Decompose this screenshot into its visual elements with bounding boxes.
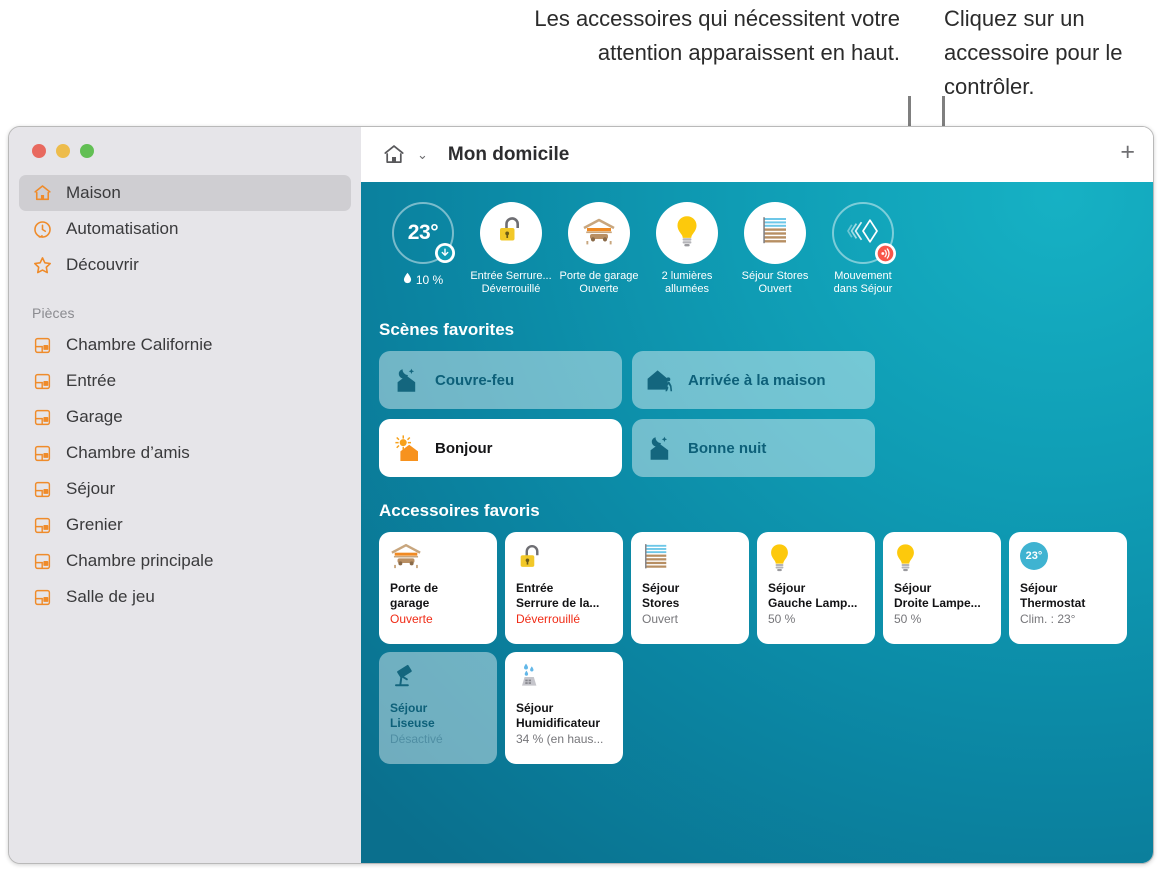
sidebar-item-label: Découvrir	[66, 255, 139, 275]
app-window: Maison Automatisation Découvrir	[8, 126, 1154, 864]
motion-alert-badge-icon	[875, 243, 896, 264]
thermostat-temperature-badge: 23°	[1020, 542, 1048, 570]
scene-label: Arrivée à la maison	[688, 372, 826, 389]
blinds-icon	[642, 542, 739, 580]
accessory-card-sejour-thermostat[interactable]: 23° Séjour Thermostat Clim. : 23°	[1009, 532, 1127, 644]
status-strip: 23° 10 %	[379, 182, 1153, 296]
accessory-state: 50 %	[768, 612, 865, 627]
sidebar-item-sejour[interactable]: Séjour	[19, 471, 351, 507]
room-icon	[31, 406, 53, 428]
accessory-state: 34 % (en haus...	[516, 732, 613, 747]
status-label: Mouvement dans Séjour	[816, 270, 910, 296]
sidebar-item-salle-de-jeu[interactable]: Salle de jeu	[19, 579, 351, 615]
callout-text-left: Les accessoires qui nécessitent votre at…	[520, 2, 900, 70]
humidity-value: 10 %	[416, 273, 443, 287]
sidebar-item-label: Salle de jeu	[66, 587, 155, 607]
status-label: Entrée Serrure... Déverrouillé	[464, 270, 558, 296]
sidebar-item-label: Séjour	[66, 479, 115, 499]
house-person-icon	[646, 366, 676, 394]
accessory-name: Entrée Serrure de la...	[516, 581, 613, 611]
sidebar-item-label: Maison	[66, 183, 121, 203]
scenes-grid: Couvre-feu Arrivée à la maison	[379, 351, 1153, 477]
sidebar-item-label: Chambre Californie	[66, 335, 212, 355]
chevron-down-icon[interactable]: ⌄	[417, 147, 428, 163]
temperature-dial: 23°	[392, 202, 454, 264]
garage-icon	[582, 217, 616, 250]
status-circle	[744, 202, 806, 264]
sidebar-item-decouvrir[interactable]: Découvrir	[19, 247, 351, 283]
sidebar-item-entree[interactable]: Entrée	[19, 363, 351, 399]
room-icon	[31, 550, 53, 572]
accessory-state: Désactivé	[390, 732, 487, 747]
blinds-icon	[760, 215, 790, 252]
status-tile-lock[interactable]: Entrée Serrure... Déverrouillé	[467, 202, 555, 296]
status-circle	[832, 202, 894, 264]
unlocked-padlock-icon	[495, 214, 527, 253]
callout-text-right: Cliquez sur un accessoire pour le contrô…	[944, 2, 1162, 104]
accessory-card-sejour-humidificateur[interactable]: Séjour Humidificateur 34 % (en haus...	[505, 652, 623, 764]
accessories-grid: Porte de garage Ouverte Entrée Serrure d…	[379, 532, 1151, 764]
callout-annotations: Les accessoires qui nécessitent votre at…	[0, 0, 1162, 130]
garage-icon	[390, 542, 487, 580]
accessory-state: 50 %	[894, 612, 991, 627]
status-circle	[480, 202, 542, 264]
sidebar-item-label: Entrée	[66, 371, 116, 391]
home-content: 23° 10 %	[361, 182, 1153, 863]
scene-label: Bonjour	[435, 440, 493, 457]
room-icon	[31, 442, 53, 464]
room-icon	[31, 478, 53, 500]
page-title: Mon domicile	[448, 144, 569, 166]
sidebar-item-maison[interactable]: Maison	[19, 175, 351, 211]
temperature-value: 23°	[408, 221, 439, 245]
accessory-card-sejour-gauche-lampe[interactable]: Séjour Gauche Lamp... 50 %	[757, 532, 875, 644]
sidebar-item-label: Garage	[66, 407, 123, 427]
scene-label: Couvre-feu	[435, 372, 514, 389]
star-icon	[31, 254, 53, 276]
status-tile-climate[interactable]: 23° 10 %	[379, 202, 467, 296]
download-badge-icon	[435, 243, 455, 263]
accessory-state: Déverrouillé	[516, 612, 613, 627]
status-tile-garage[interactable]: Porte de garage Ouverte	[555, 202, 643, 296]
accessory-card-sejour-stores[interactable]: Séjour Stores Ouvert	[631, 532, 749, 644]
sidebar-item-label: Automatisation	[66, 219, 178, 239]
accessory-card-sejour-droite-lampe[interactable]: Séjour Droite Lampe... 50 %	[883, 532, 1001, 644]
scene-label: Bonne nuit	[688, 440, 766, 457]
accessory-card-entree-serrure[interactable]: Entrée Serrure de la... Déverrouillé	[505, 532, 623, 644]
main-area: ⌄ Mon domicile + 23°	[361, 127, 1153, 863]
accessory-name: Séjour Liseuse	[390, 701, 487, 731]
zoom-button[interactable]	[80, 144, 94, 158]
droplet-icon	[403, 272, 412, 287]
accessory-card-porte-de-garage[interactable]: Porte de garage Ouverte	[379, 532, 497, 644]
moon-house-icon	[646, 434, 676, 462]
sidebar-item-chambre-principale[interactable]: Chambre principale	[19, 543, 351, 579]
lightbulb-icon	[768, 542, 865, 580]
sidebar-rooms-list: Chambre Californie Entrée	[19, 327, 351, 615]
sidebar-item-garage[interactable]: Garage	[19, 399, 351, 435]
scenes-section-title: Scènes favorites	[379, 320, 1153, 340]
sidebar-primary-list: Maison Automatisation Découvrir	[19, 175, 351, 283]
minimize-button[interactable]	[56, 144, 70, 158]
scene-card-couvre-feu[interactable]: Couvre-feu	[379, 351, 622, 409]
accessory-name: Porte de garage	[390, 581, 487, 611]
status-label: 2 lumières allumées	[640, 270, 734, 296]
humidity-row: 10 %	[403, 272, 443, 287]
moon-house-icon	[393, 366, 423, 394]
room-icon	[31, 586, 53, 608]
accessory-name: Séjour Gauche Lamp...	[768, 581, 865, 611]
toolbar: ⌄ Mon domicile +	[361, 127, 1153, 182]
desk-lamp-icon	[390, 662, 487, 700]
close-button[interactable]	[32, 144, 46, 158]
accessory-state: Ouvert	[642, 612, 739, 627]
accessory-name: Séjour Stores	[642, 581, 739, 611]
room-icon	[31, 370, 53, 392]
status-tile-blinds[interactable]: Séjour Stores Ouvert	[731, 202, 819, 296]
status-label: Séjour Stores Ouvert	[728, 270, 822, 296]
lightbulb-icon	[894, 542, 991, 580]
sidebar-item-label: Chambre d’amis	[66, 443, 190, 463]
unlocked-padlock-icon	[516, 542, 613, 580]
accessory-name: Séjour Thermostat	[1020, 581, 1117, 611]
accessory-state: Ouverte	[390, 612, 487, 627]
sidebar-item-chambre-californie[interactable]: Chambre Californie	[19, 327, 351, 363]
thermostat-icon: 23°	[1020, 542, 1117, 580]
home-icon[interactable]	[381, 142, 407, 168]
status-circle	[656, 202, 718, 264]
accessories-section-title: Accessoires favoris	[379, 501, 1153, 521]
humidifier-icon	[516, 662, 613, 700]
sidebar-item-label: Chambre principale	[66, 551, 213, 571]
home-icon	[31, 182, 53, 204]
accessory-state: Clim. : 23°	[1020, 612, 1117, 627]
status-circle	[568, 202, 630, 264]
sidebar-item-label: Grenier	[66, 515, 123, 535]
room-icon	[31, 334, 53, 356]
sidebar-item-automatisation[interactable]: Automatisation	[19, 211, 351, 247]
add-button[interactable]: +	[1120, 140, 1135, 169]
sun-house-icon	[393, 434, 423, 462]
status-label: Porte de garage Ouverte	[552, 270, 646, 296]
scene-card-arrivee-a-la-maison[interactable]: Arrivée à la maison	[632, 351, 875, 409]
sidebar-item-chambre-damis[interactable]: Chambre d’amis	[19, 435, 351, 471]
room-icon	[31, 514, 53, 536]
clock-icon	[31, 218, 53, 240]
status-tile-motion[interactable]: Mouvement dans Séjour	[819, 202, 907, 296]
sidebar: Maison Automatisation Découvrir	[9, 127, 361, 863]
accessory-card-sejour-liseuse[interactable]: Séjour Liseuse Désactivé	[379, 652, 497, 764]
sidebar-group-title: Pièces	[19, 305, 351, 321]
accessory-name: Séjour Droite Lampe...	[894, 581, 991, 611]
window-controls	[19, 127, 351, 158]
accessory-name: Séjour Humidificateur	[516, 701, 613, 731]
scene-card-bonjour[interactable]: Bonjour	[379, 419, 622, 477]
scene-card-bonne-nuit[interactable]: Bonne nuit	[632, 419, 875, 477]
lightbulb-icon	[674, 214, 700, 253]
sidebar-item-grenier[interactable]: Grenier	[19, 507, 351, 543]
status-tile-lights[interactable]: 2 lumières allumées	[643, 202, 731, 296]
